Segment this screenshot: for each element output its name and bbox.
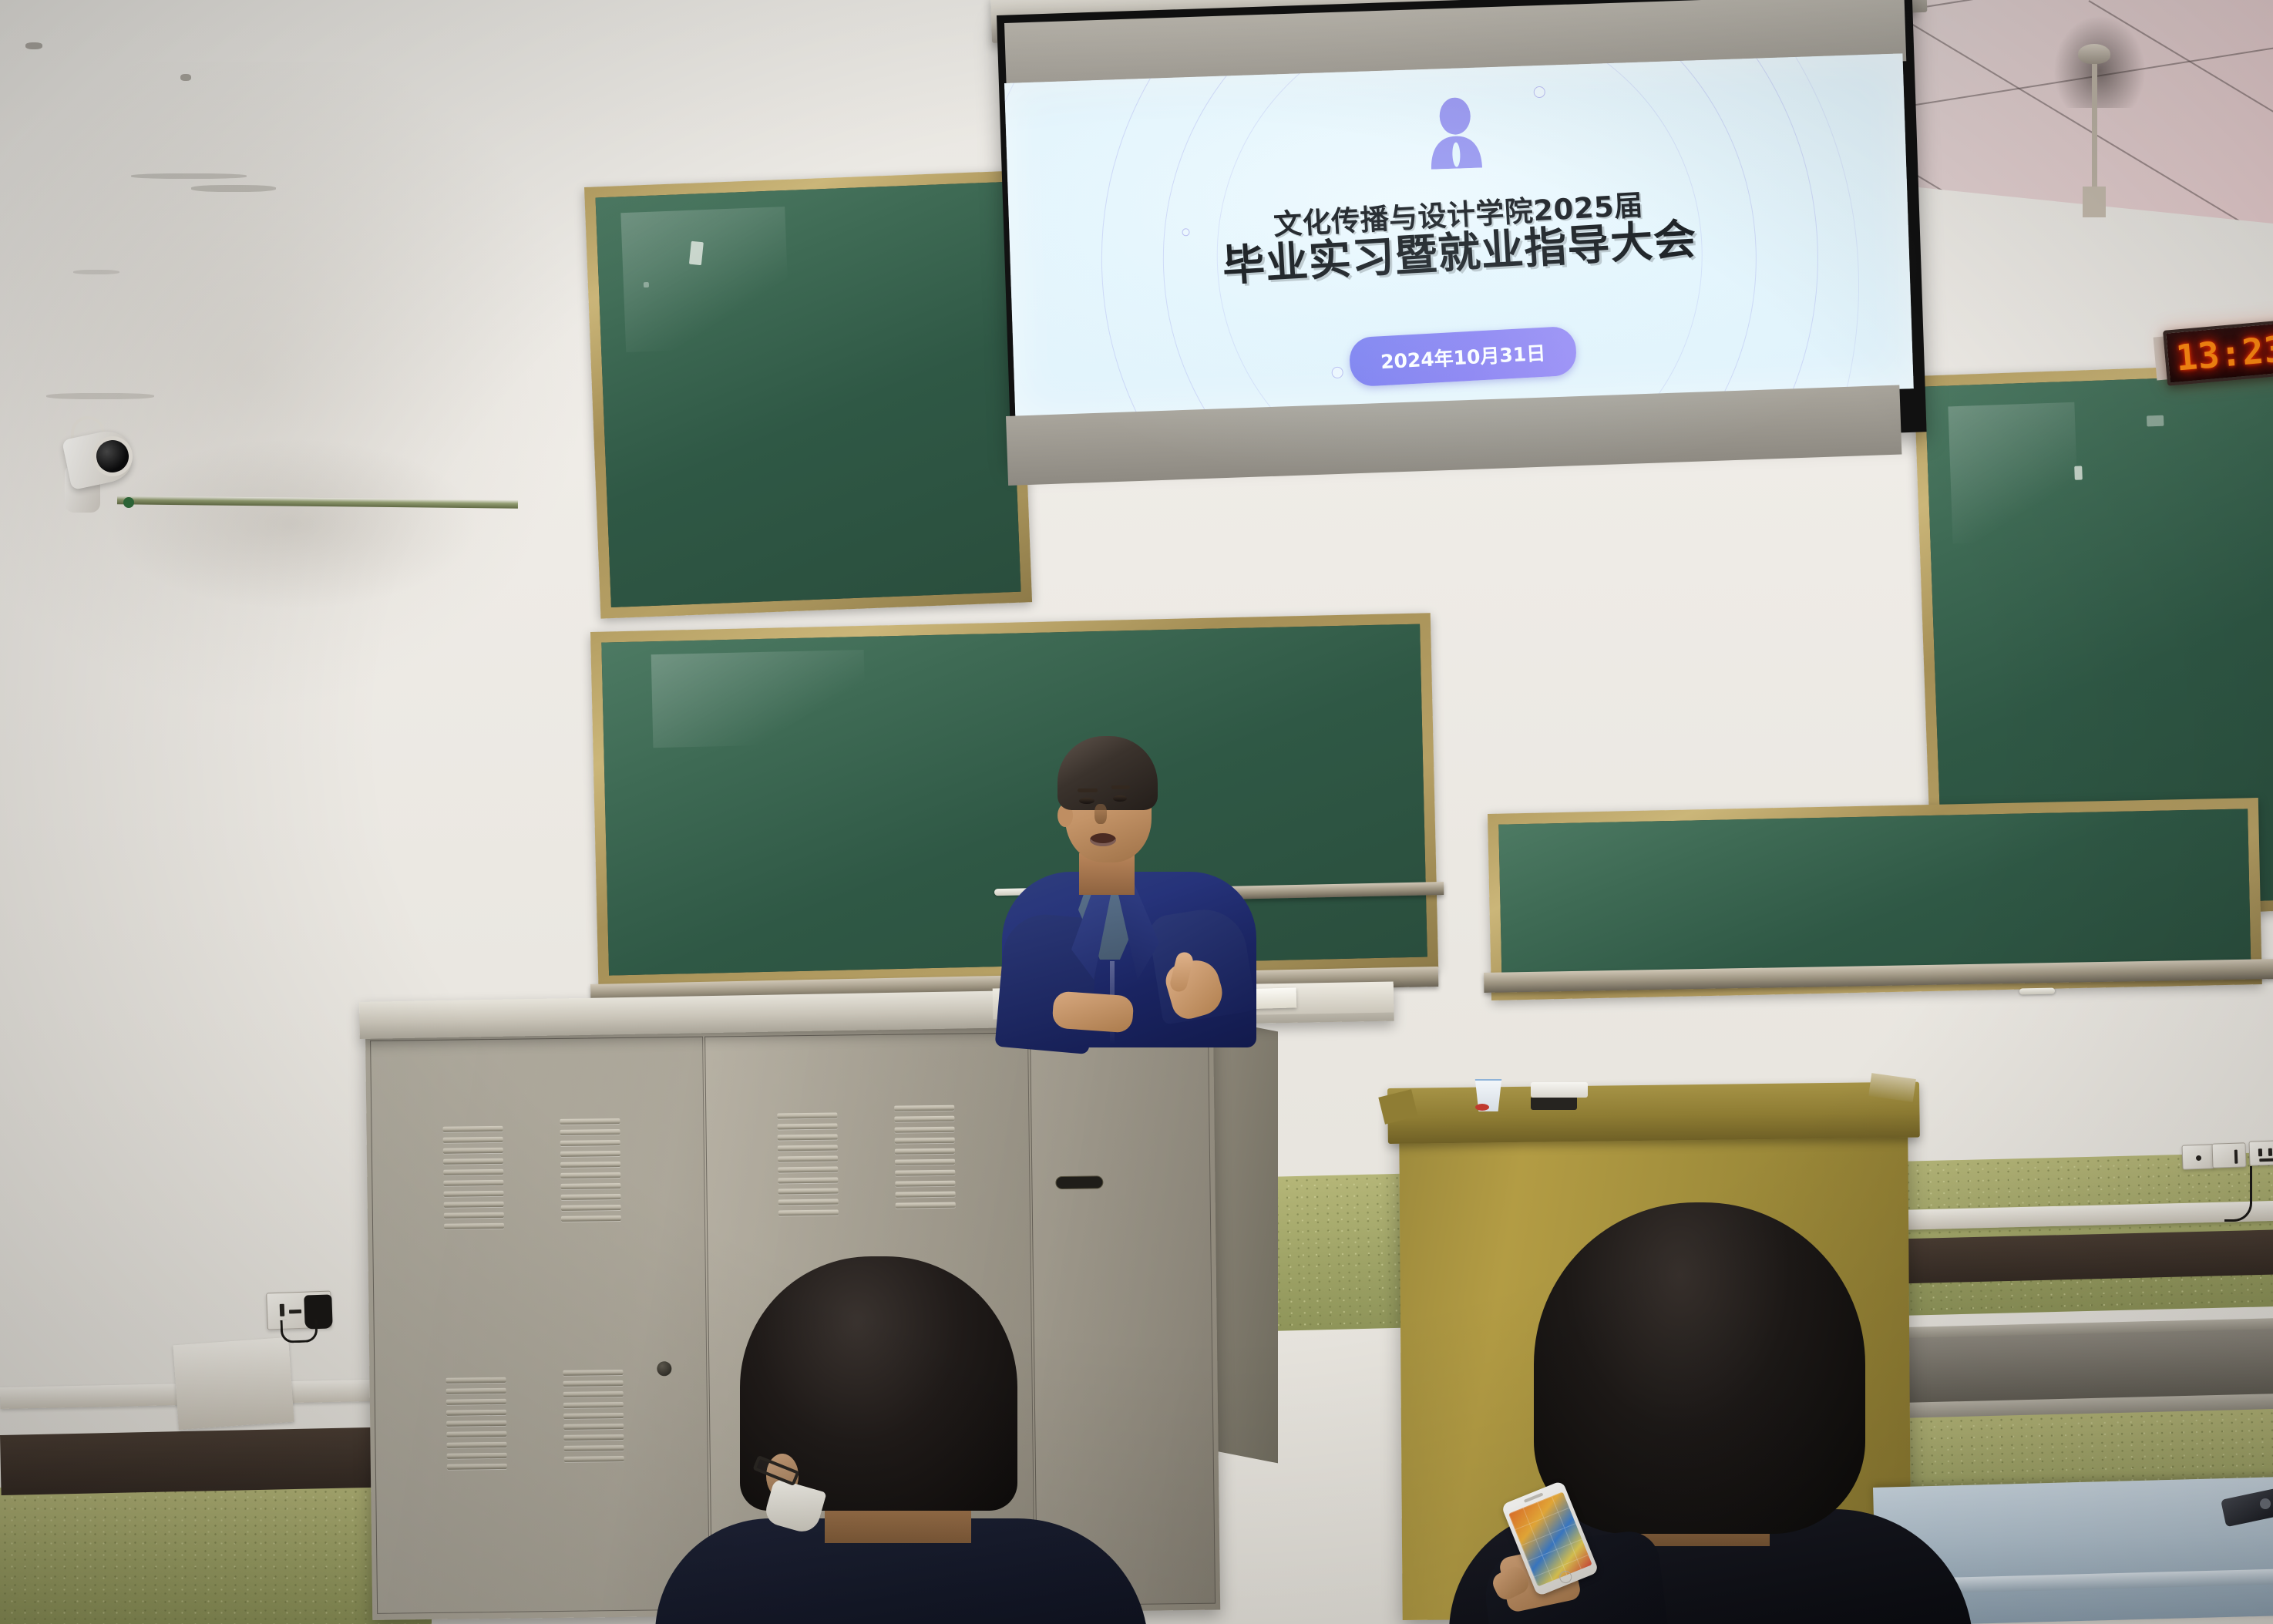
cabinet-vent bbox=[894, 1105, 956, 1214]
wall-scuff-area bbox=[92, 432, 493, 617]
cabinet-vent bbox=[442, 1126, 504, 1235]
led-clock: 13:23:04 bbox=[2163, 320, 2273, 386]
pendant-light-icon bbox=[2078, 44, 2110, 64]
wall-mark bbox=[46, 393, 154, 399]
person-silhouette-icon bbox=[1424, 96, 1487, 170]
baseboard-left bbox=[0, 1427, 402, 1495]
cabinet-door-left[interactable] bbox=[370, 1037, 710, 1614]
presenter bbox=[1010, 736, 1256, 1044]
cabinet-vent bbox=[563, 1370, 624, 1468]
pendant-light-rod bbox=[2092, 55, 2097, 190]
cabinet-vent bbox=[560, 1118, 621, 1227]
wall-socket-right-2[interactable] bbox=[2211, 1142, 2246, 1168]
cup-logo bbox=[1475, 1104, 1489, 1111]
ceiling-junction-box bbox=[2083, 187, 2106, 217]
wall-stain bbox=[0, 62, 632, 755]
whiteboard-eraser[interactable] bbox=[1531, 1082, 1588, 1098]
cabinet-lock[interactable] bbox=[657, 1361, 671, 1376]
presenter-mouth bbox=[1090, 833, 1116, 846]
lectern-top bbox=[1387, 1082, 1920, 1144]
plug-wire bbox=[280, 1319, 318, 1343]
cabinet-vent bbox=[777, 1113, 839, 1222]
chalk-piece[interactable] bbox=[2019, 988, 2055, 995]
presenter-eyebrow bbox=[1078, 788, 1098, 792]
presenter-eyebrow bbox=[1111, 785, 1130, 789]
wall-mark bbox=[191, 185, 276, 192]
cabinet-vent bbox=[446, 1377, 507, 1475]
baseboard-right bbox=[1881, 1229, 2273, 1283]
phone-camera-icon bbox=[2260, 1498, 2271, 1509]
wall-mark bbox=[131, 173, 247, 179]
wall-socket-right-3[interactable] bbox=[2248, 1140, 2273, 1166]
floor-left-strip bbox=[0, 1488, 432, 1624]
presentation-slide[interactable]: 文化传播与设计学院2025届 毕业实习暨就业指导大会 2024年10月31日 bbox=[1004, 53, 1914, 418]
eraser-felt bbox=[1531, 1098, 1577, 1110]
presenter-eye bbox=[1113, 795, 1127, 802]
cable-connector bbox=[123, 497, 134, 508]
cabinet-brand-badge bbox=[1055, 1175, 1103, 1189]
attendee2-hair bbox=[1534, 1202, 1865, 1534]
attendee-with-mask bbox=[709, 1256, 1094, 1624]
wall-mark bbox=[73, 270, 119, 274]
clock-time-display: 13:23:04 bbox=[2174, 322, 2273, 379]
presenter-hand-resting bbox=[1051, 990, 1134, 1033]
presenter-eye bbox=[1079, 798, 1094, 804]
wall-switch-right-1[interactable] bbox=[2181, 1144, 2214, 1169]
chalkboard-left bbox=[584, 171, 1032, 619]
wall-mark bbox=[25, 42, 42, 49]
presenter-hair bbox=[1057, 736, 1158, 810]
presenter-nose bbox=[1094, 804, 1107, 824]
cabinet-side-panel bbox=[1212, 1019, 1278, 1464]
wall-mark bbox=[180, 74, 191, 81]
appliance-cable bbox=[2224, 1166, 2252, 1222]
classroom-scene: THREELEAF 文化传播与设计学院2025届 毕业实习暨就业指导大会 202… bbox=[0, 0, 2273, 1624]
wall-conduit-mid bbox=[173, 1337, 294, 1430]
